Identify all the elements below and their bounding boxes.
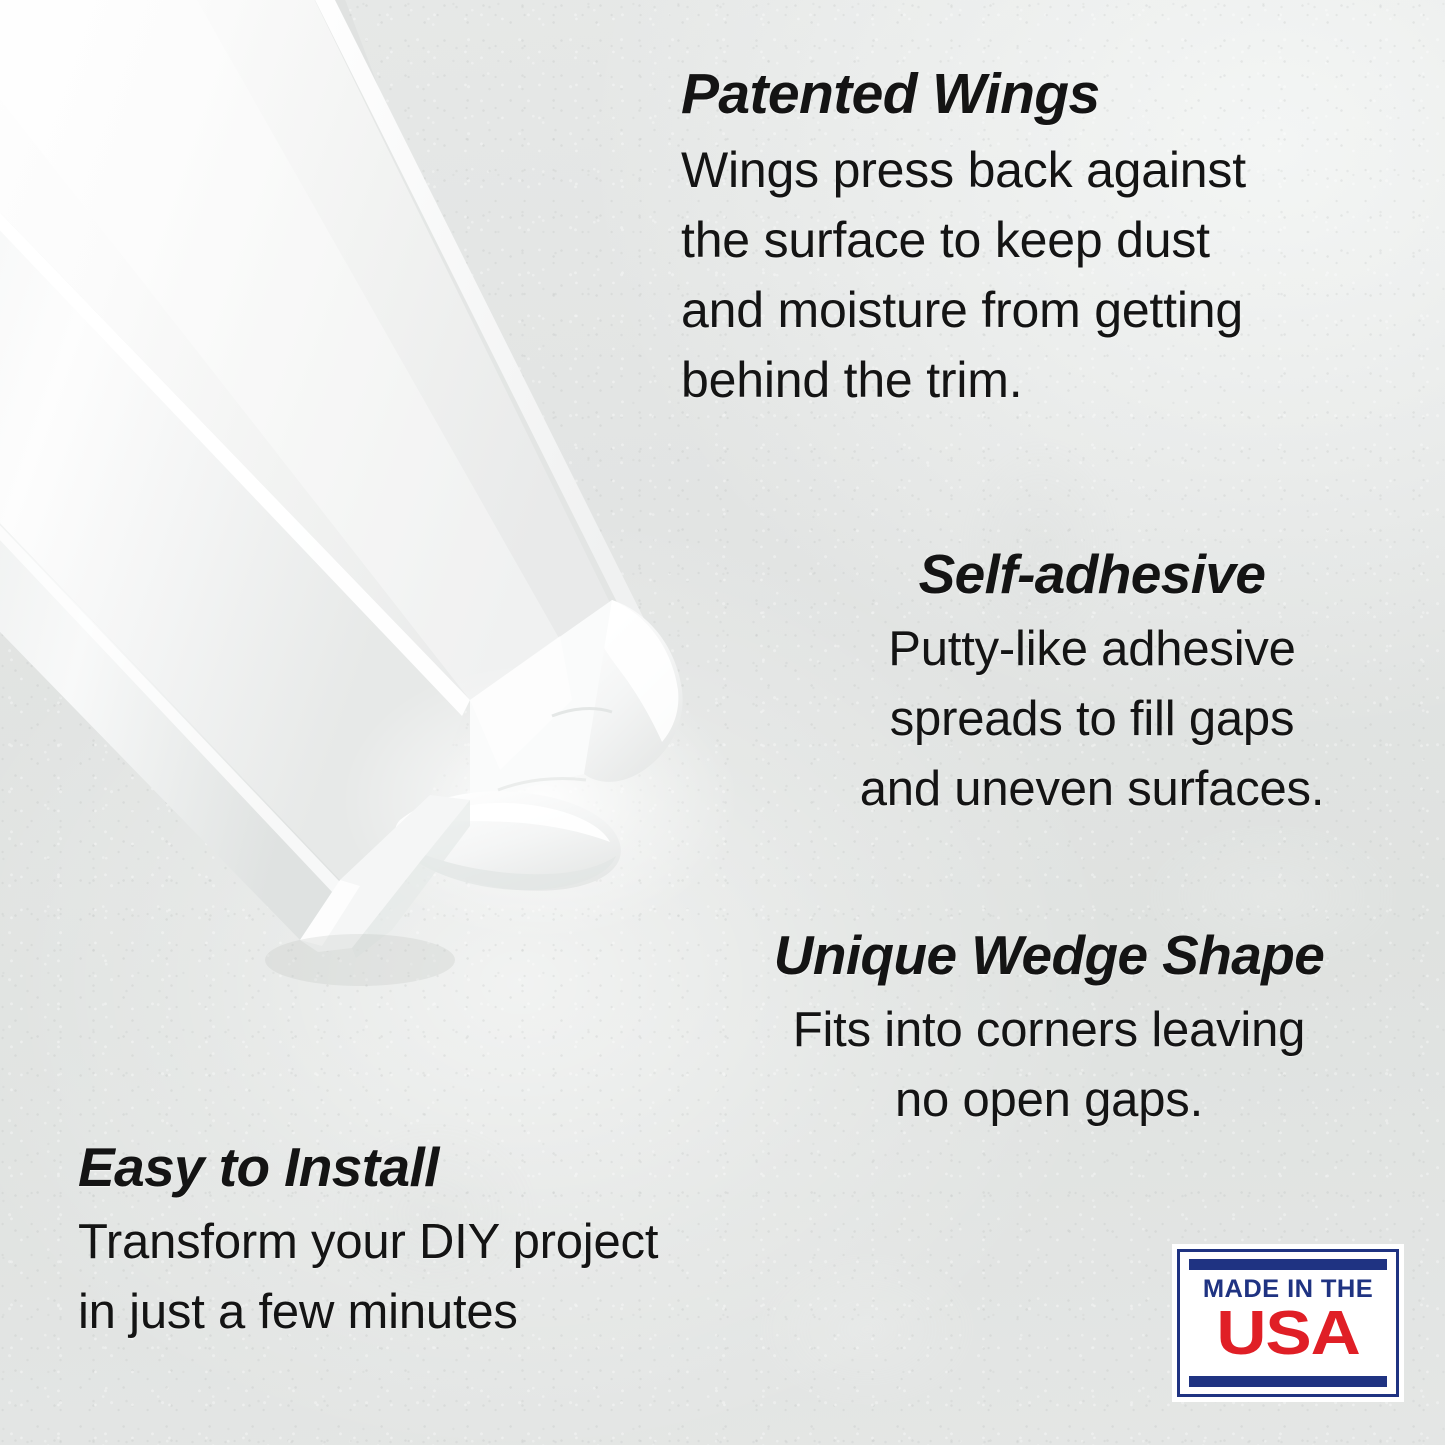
feature-body-line: the surface to keep dust xyxy=(681,205,1246,275)
feature-block-self-adhesive: Self-adhesive Putty-like adhesive spread… xyxy=(812,547,1372,824)
feature-body-line: Fits into corners leaving xyxy=(718,995,1380,1065)
feature-body-line: spreads to fill gaps xyxy=(812,684,1372,754)
feature-body-line: no open gaps. xyxy=(718,1065,1380,1135)
feature-heading-patented-wings: Patented Wings xyxy=(681,66,1246,123)
feature-block-patented-wings: Patented Wings Wings press back against … xyxy=(681,66,1246,415)
feature-body-easy-to-install: Transform your DIY project in just a few… xyxy=(78,1207,658,1347)
infographic-canvas: Patented Wings Wings press back against … xyxy=(0,0,1445,1445)
feature-body-line: behind the trim. xyxy=(681,345,1246,415)
badge-top-bar xyxy=(1189,1259,1387,1270)
badge-usa-text: USA xyxy=(1177,1304,1399,1364)
feature-body-self-adhesive: Putty-like adhesive spreads to fill gaps… xyxy=(812,614,1372,824)
badge-spacer xyxy=(1189,1367,1387,1376)
feature-body-line: and uneven surfaces. xyxy=(812,754,1372,824)
badge-bottom-bar xyxy=(1189,1376,1387,1387)
made-in-usa-badge: MADE IN THE USA xyxy=(1172,1244,1404,1402)
product-photo-trim-strip xyxy=(0,0,760,1010)
feature-body-line: Transform your DIY project xyxy=(78,1207,658,1277)
feature-heading-unique-wedge-shape: Unique Wedge Shape xyxy=(718,928,1380,983)
feature-heading-self-adhesive: Self-adhesive xyxy=(812,547,1372,602)
badge-frame: MADE IN THE USA xyxy=(1177,1249,1399,1397)
feature-block-easy-to-install: Easy to Install Transform your DIY proje… xyxy=(78,1140,658,1347)
feature-body-line: Wings press back against xyxy=(681,135,1246,205)
feature-body-line: in just a few minutes xyxy=(78,1277,658,1347)
feature-body-unique-wedge-shape: Fits into corners leaving no open gaps. xyxy=(718,995,1380,1135)
feature-heading-easy-to-install: Easy to Install xyxy=(78,1140,658,1195)
feature-block-unique-wedge-shape: Unique Wedge Shape Fits into corners lea… xyxy=(718,928,1380,1135)
feature-body-line: and moisture from getting xyxy=(681,275,1246,345)
feature-body-line: Putty-like adhesive xyxy=(812,614,1372,684)
feature-body-patented-wings: Wings press back against the surface to … xyxy=(681,135,1246,415)
